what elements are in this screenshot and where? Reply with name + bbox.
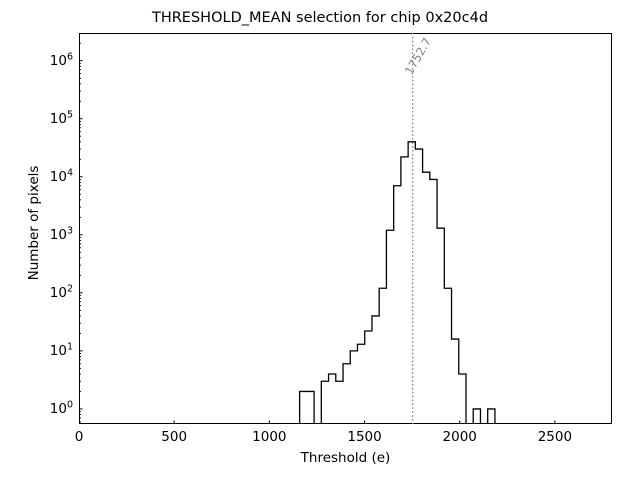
x-tick-label: 2500 [538, 429, 572, 445]
y-tick-label: 100 [0, 401, 73, 417]
x-tick-label: 0 [75, 429, 84, 445]
y-axis-label: Number of pixels [26, 58, 42, 388]
x-tick-label: 1000 [252, 429, 286, 445]
chart-title: THRESHOLD_MEAN selection for chip 0x20c4… [0, 10, 640, 26]
x-tick-label: 2000 [443, 429, 477, 445]
matplotlib-figure: THRESHOLD_MEAN selection for chip 0x20c4… [0, 0, 640, 480]
x-tick-label: 500 [161, 429, 187, 445]
histogram-plot [79, 33, 612, 424]
histogram-step-line [300, 142, 495, 424]
x-tick-label: 1500 [347, 429, 381, 445]
plot-area: 1752.7 [79, 33, 612, 424]
x-axis-label: Threshold (e) [79, 450, 612, 466]
axes-frame [80, 34, 612, 424]
